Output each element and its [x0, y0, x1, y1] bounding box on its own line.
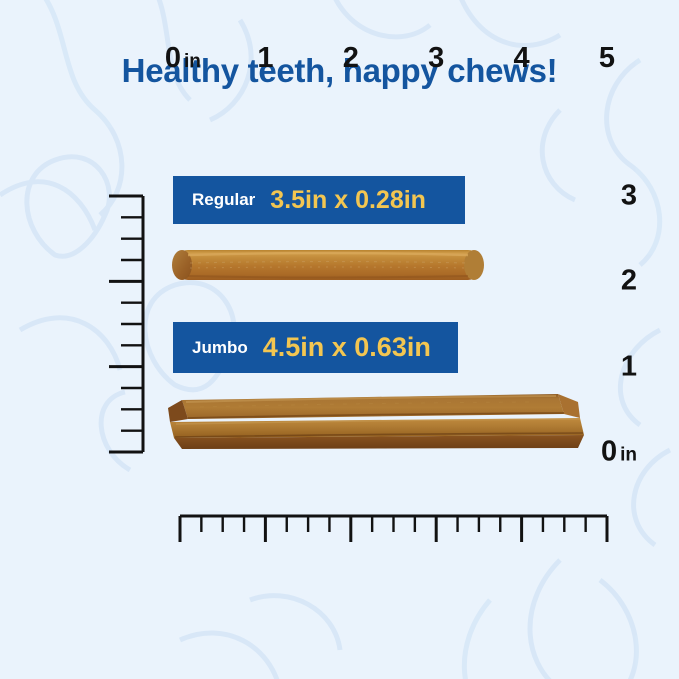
horizontal-ruler-label: 3	[428, 44, 444, 73]
size-name-jumbo: Jumbo	[192, 338, 248, 358]
size-dimensions-jumbo: 4.5in x 0.63in	[263, 332, 431, 363]
horizontal-ruler-label: 5	[599, 44, 615, 73]
page-title: Healthy teeth, happy chews!	[0, 52, 679, 90]
chew-stick-regular	[168, 248, 488, 282]
size-name-regular: Regular	[192, 190, 255, 210]
vertical-ruler-label: 3	[621, 182, 637, 211]
horizontal-ruler-label: 2	[343, 44, 359, 73]
horizontal-ruler-label: 4	[514, 44, 530, 73]
vertical-ruler	[55, 180, 150, 470]
spec-banner-jumbo: Jumbo 4.5in x 0.63in	[173, 322, 458, 373]
horizontal-ruler-label: 0in	[165, 44, 201, 73]
horizontal-ruler-label: 1	[257, 44, 273, 73]
vertical-ruler-label: 1	[621, 352, 637, 381]
vertical-ruler-label: 2	[621, 267, 637, 296]
product-size-infographic: Healthy teeth, happy chews! 3210in 0in12…	[0, 0, 679, 679]
vertical-ruler-label: 0in	[601, 438, 637, 467]
size-dimensions-regular: 3.5in x 0.28in	[270, 186, 426, 215]
spec-banner-regular: Regular 3.5in x 0.28in	[173, 176, 465, 224]
horizontal-ruler	[160, 512, 630, 587]
chew-stick-jumbo	[160, 388, 590, 451]
